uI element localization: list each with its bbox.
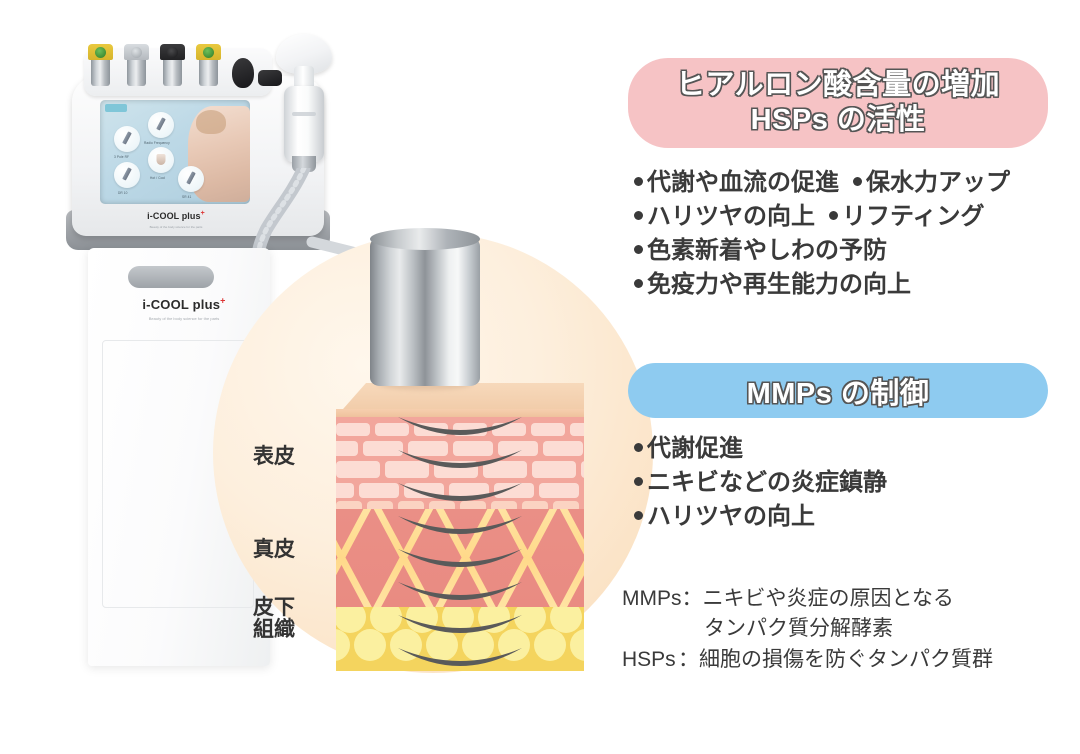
note-sep-hsps: ： xyxy=(678,648,699,671)
screen-icon-label-1: Radio Frequency xyxy=(144,141,170,145)
bullet-dot-icon xyxy=(634,477,643,486)
cart-brand-superscript: + xyxy=(220,296,225,306)
note-text-mmps-line2: タンパク質分解酵素 xyxy=(704,617,893,640)
bullet-item: 保水力アップ xyxy=(853,166,1010,200)
bullet-row: ハリツヤの向上リフティング xyxy=(634,200,1074,234)
bullet-dot-icon xyxy=(634,245,643,254)
note-key-hsps: HSPs xyxy=(622,645,678,675)
layer-label-subcutaneous: 皮下 組織 xyxy=(236,597,312,642)
bullet-dot-icon xyxy=(634,279,643,288)
bullet-item: 色素新着やしわの予防 xyxy=(634,234,887,268)
layer-label-epidermis: 表皮 xyxy=(236,446,312,468)
bullet-text: ハリツヤの向上 xyxy=(647,200,815,234)
infographic-canvas: 3 Pole RF Radio Frequency Hot / Cool DR … xyxy=(0,0,1080,754)
bullet-row: 色素新着やしわの予防 xyxy=(634,234,1074,268)
bullet-dot-icon xyxy=(829,211,838,220)
bullet-dot-icon xyxy=(634,211,643,220)
wave-arc xyxy=(398,582,522,600)
bullet-item: ニキビなどの炎症鎮静 xyxy=(634,466,887,500)
hsp-bullet-list: 代謝や血流の促進保水力アップハリツヤの向上リフティング色素新着やしわの予防免疫力… xyxy=(634,166,1074,302)
bullet-item: 免疫力や再生能力の向上 xyxy=(634,268,911,302)
layer-label-subcutaneous-line2: 組織 xyxy=(236,619,312,641)
bullet-dot-icon xyxy=(853,177,862,186)
hsp-banner: ヒアルロン酸含量の増加 HSPs の活性 xyxy=(628,58,1048,148)
hsp-banner-line1: ヒアルロン酸含量の増加 xyxy=(676,68,1000,103)
wave-arc xyxy=(398,450,522,468)
bullet-text: ハリツヤの向上 xyxy=(647,500,815,534)
wave-arc xyxy=(398,483,522,501)
wave-arcs-svg xyxy=(336,383,584,683)
layer-label-dermis: 真皮 xyxy=(236,539,312,561)
bullet-dot-icon xyxy=(634,443,643,452)
glossary-notes: MMPs：ニキビや炎症の原因となる タンパク質分解酵素 HSPs：細胞の損傷を防… xyxy=(622,584,1080,675)
device-touchscreen[interactable]: 3 Pole RF Radio Frequency Hot / Cool DR … xyxy=(100,100,250,204)
screen-icon-label-0: 3 Pole RF xyxy=(114,155,129,159)
bullet-row: 代謝や血流の促進保水力アップ xyxy=(634,166,1074,200)
cart-brand-text: i-COOL plus xyxy=(142,297,220,312)
bullet-item: 代謝や血流の促進 xyxy=(634,166,839,200)
handpiece-knob-2 xyxy=(124,44,149,86)
bullet-text: 免疫力や再生能力の向上 xyxy=(647,268,911,302)
wave-arc xyxy=(398,417,522,435)
cart-handle xyxy=(128,266,214,288)
hsp-banner-line2: HSPs の活性 xyxy=(676,103,1000,138)
layer-label-subcutaneous-line1: 皮下 xyxy=(236,597,312,619)
handpiece-barrel xyxy=(284,86,324,162)
wave-arc xyxy=(398,516,522,534)
applicator-top-ellipse xyxy=(370,228,480,250)
applicator-body xyxy=(370,236,480,386)
bullet-row: 免疫力や再生能力の向上 xyxy=(634,268,1074,302)
right-content-column: ヒアルロン酸含量の増加 HSPs の活性 代謝や血流の促進保水力アップハリツヤの… xyxy=(612,0,1080,754)
mmp-banner: MMPs の制御 xyxy=(628,363,1048,418)
handpiece-knob-4 xyxy=(196,44,221,86)
screen-icon-label-2: Hot / Cool xyxy=(150,176,165,180)
bullet-text: 保水力アップ xyxy=(866,166,1010,200)
bullet-text: 代謝や血流の促進 xyxy=(647,166,839,200)
screen-icon-hot-cool[interactable] xyxy=(148,147,174,173)
bullet-text: 代謝促進 xyxy=(647,432,743,466)
bullet-text: 色素新着やしわの予防 xyxy=(647,234,887,268)
bullet-row: ハリツヤの向上 xyxy=(634,500,1074,534)
device-brand: i-COOL plus+ Beauty of the body science … xyxy=(116,206,236,229)
bullet-item: ハリツヤの向上 xyxy=(634,500,815,534)
bullet-row: ニキビなどの炎症鎮静 xyxy=(634,466,1074,500)
bullet-dot-icon xyxy=(634,511,643,520)
note-key-mmps: MMPs xyxy=(622,584,682,614)
screen-tag xyxy=(105,104,127,112)
bullet-text: ニキビなどの炎症鎮静 xyxy=(647,466,887,500)
screen-icon-dr10[interactable] xyxy=(114,162,140,188)
screen-icon-label-3: DR 10 xyxy=(118,191,128,195)
screen-icon-3-pole-rf[interactable] xyxy=(114,126,140,152)
handpiece-knob-1 xyxy=(88,44,113,86)
note-text-mmps-line1: ニキビや炎症の原因となる xyxy=(703,587,954,610)
handpiece-knob-3 xyxy=(160,44,185,86)
note-sep-mmps: ： xyxy=(682,587,703,610)
bullet-row: 代謝促進 xyxy=(634,432,1074,466)
mmp-banner-text: MMPs の制御 xyxy=(747,370,930,412)
device-brand-text: i-COOL plus xyxy=(147,211,200,221)
cart-tagline: Beauty of the body science for the parts xyxy=(114,316,254,321)
note-row-hsps: HSPs：細胞の損傷を防ぐタンパク質群 xyxy=(622,645,1080,675)
screen-icon-radio-frequency[interactable] xyxy=(148,112,174,138)
metal-applicator-head xyxy=(370,228,480,388)
bullet-text: リフティング xyxy=(842,200,985,234)
screen-icon-sr41[interactable] xyxy=(178,166,204,192)
cart-brand: i-COOL plus+ Beauty of the body science … xyxy=(114,296,254,321)
device-brand-superscript: + xyxy=(201,210,205,217)
bullet-item: ハリツヤの向上 xyxy=(634,200,815,234)
handpiece-assembly xyxy=(248,30,376,260)
wave-arc xyxy=(398,549,522,567)
note-text-hsps-line1: 細胞の損傷を防ぐタンパク質群 xyxy=(699,648,993,671)
bullet-dot-icon xyxy=(634,177,643,186)
ultrasound-wave-arcs xyxy=(336,383,584,683)
device-tagline: Beauty of the body science for the parts xyxy=(116,225,236,229)
bullet-item: 代謝促進 xyxy=(634,432,743,466)
screen-icon-label-4: SR 41 xyxy=(182,195,191,199)
mmp-bullet-list: 代謝促進ニキビなどの炎症鎮静ハリツヤの向上 xyxy=(634,432,1074,534)
bullet-item: リフティング xyxy=(829,200,985,234)
wave-arc xyxy=(398,648,522,666)
note-row-mmps-cont: タンパク質分解酵素 xyxy=(622,614,1080,644)
note-row-mmps: MMPs：ニキビや炎症の原因となる xyxy=(622,584,1080,614)
wave-arc xyxy=(398,615,522,633)
